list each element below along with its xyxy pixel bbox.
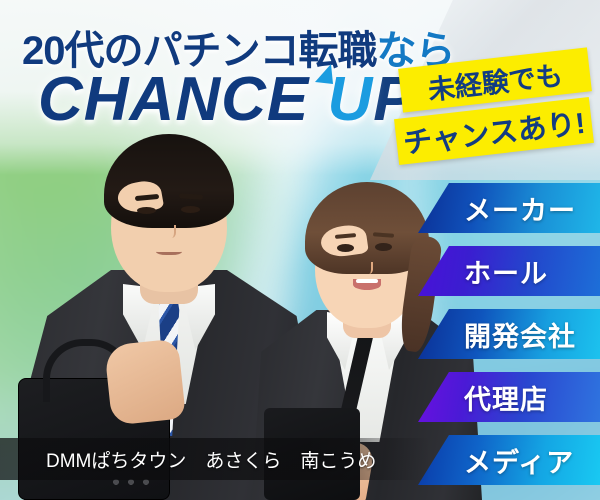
category-label-agency: 代理店 [464,378,548,417]
female-nose [363,262,373,274]
male-eye-right [181,206,200,213]
category-button-hall[interactable]: ホール [418,246,600,296]
brand-logo: CHANCE UP [38,64,416,135]
caption-text: DMMぱちタウン あさくら 南こうめ [46,446,376,473]
caption-bar: DMMぱちタウン あさくら 南こうめ [0,438,430,480]
male-hand [104,338,186,425]
category-button-development-company[interactable]: 開発会社 [418,309,600,359]
arrow-up-icon [309,62,343,96]
female-mouth [353,279,381,290]
category-label-development-company: 開発会社 [464,315,576,354]
male-nose [165,225,176,238]
category-label-maker: メーカー [464,189,576,228]
female-eye-right [375,243,392,251]
category-button-media[interactable]: メディア [418,435,600,485]
category-button-maker[interactable]: メーカー [418,183,600,233]
male-eye-left [137,207,156,214]
male-mouth [156,247,182,255]
category-label-hall: ホール [464,252,548,291]
logo-word-chance: CHANCE [38,65,309,134]
category-label-media: メディア [464,441,574,480]
advertisement-banner[interactable]: 20代のパチンコ転職なら CHANCE UP 未経験でも チャンスあり! メーカ… [0,0,600,500]
female-eye-left [337,244,354,252]
category-button-agency[interactable]: 代理店 [418,372,600,422]
